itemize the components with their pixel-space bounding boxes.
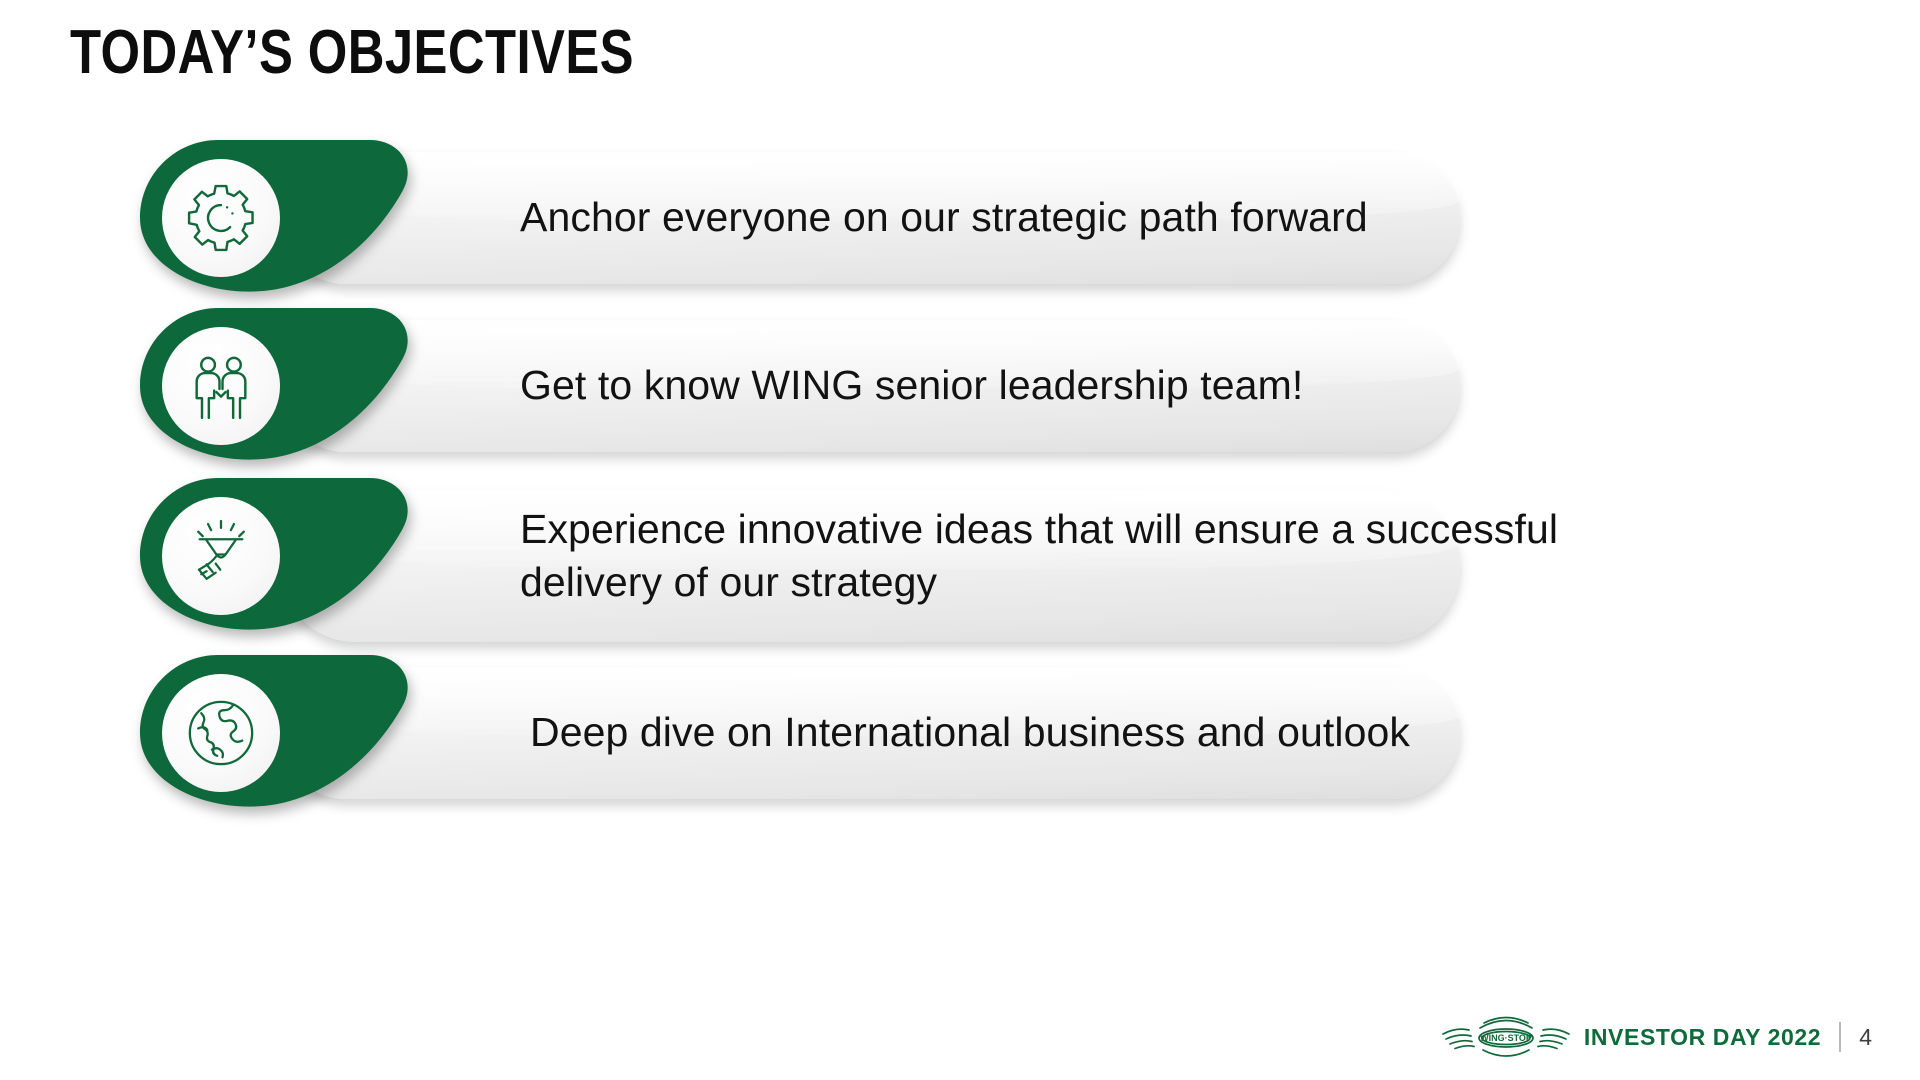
- objective-icon-circle: [162, 497, 280, 615]
- globe-icon: [183, 695, 259, 771]
- footer: WING·STOP INVESTOR DAY 2022 4: [1440, 1008, 1872, 1066]
- objective-row: Experience innovative ideas that will en…: [140, 478, 1460, 648]
- wingstop-logo: WING·STOP: [1440, 1010, 1584, 1064]
- objective-icon-circle: [162, 674, 280, 792]
- objective-icon-circle: [162, 159, 280, 277]
- objective-row: Anchor everyone on our strategic path fo…: [140, 140, 1460, 300]
- gear-icon: [183, 180, 259, 256]
- bar-sheen: [280, 490, 1460, 569]
- wingstop-logo-text: WING·STOP: [1480, 1033, 1532, 1043]
- footer-divider: [1839, 1022, 1841, 1052]
- footer-label: INVESTOR DAY 2022: [1584, 1024, 1821, 1051]
- hand-holding-torch-icon: [183, 518, 259, 594]
- bar-sheen: [280, 667, 1460, 736]
- objective-bar: [280, 152, 1460, 284]
- objective-row: Get to know WING senior leadership team!: [140, 308, 1460, 468]
- objective-bar: [280, 667, 1460, 799]
- two-people-handshake-icon: [183, 348, 259, 424]
- objective-bar: [280, 490, 1460, 642]
- objective-row: Deep dive on International business and …: [140, 655, 1460, 815]
- objective-bar: [280, 320, 1460, 452]
- page-title: TODAY’S OBJECTIVES: [70, 22, 634, 84]
- bar-sheen: [280, 320, 1460, 389]
- bar-sheen: [280, 152, 1460, 221]
- objective-icon-circle: [162, 327, 280, 445]
- page-number: 4: [1859, 1024, 1872, 1051]
